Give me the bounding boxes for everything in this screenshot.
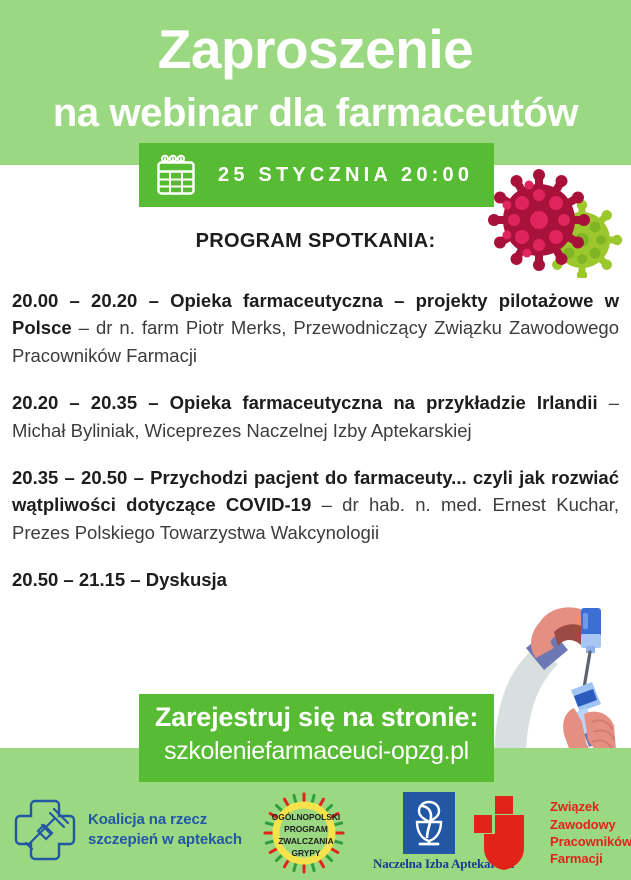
registration-url[interactable]: szkoleniefarmaceuci-opzg.pl xyxy=(139,735,494,768)
program-item: 20.20 – 20.35 – Opieka farmaceutyczna na… xyxy=(12,389,619,444)
logo-zzpf-line3: Pracowników xyxy=(550,834,631,849)
page-title: Zaproszenie xyxy=(0,21,631,79)
date-badge: 25 STYCZNIA 20:00 xyxy=(139,143,494,207)
red-shield-icon xyxy=(468,794,544,872)
logo-zzpf-line4: Farmacji xyxy=(550,851,603,866)
program-item-title: 20.50 – 21.15 – Dyskusja xyxy=(12,569,227,590)
logo-ogolnopolski-program-zwalczania-grypy: OGÓLNOPOLSKI PROGRAM ZWALCZANIA GRYPY xyxy=(254,790,366,876)
svg-text:GRYPY: GRYPY xyxy=(291,848,320,858)
program-item: 20.50 – 21.15 – Dyskusja xyxy=(12,566,619,593)
logo-koalicja-text: Koalicja na rzecz szczepień w aptekach xyxy=(88,810,242,850)
pharmacy-cross-syringe-icon xyxy=(10,795,80,865)
program-heading: PROGRAM SPOTKANIA: xyxy=(0,230,631,253)
logo-zzpf-line2: Zawodowy xyxy=(550,817,616,832)
program-item: 20.00 – 20.20 – Opieka farmaceutyczna – … xyxy=(12,287,619,369)
logo-koalicja-line2: szczepień w aptekach xyxy=(88,831,242,848)
registration-cta: Zarejestruj się na stronie: xyxy=(139,701,494,735)
calendar-icon xyxy=(156,154,196,196)
svg-text:OGÓLNOPOLSKI: OGÓLNOPOLSKI xyxy=(272,811,340,822)
logo-zwiazek-zawodowy-pracownikow-farmacji: Związek Zawodowy Pracowników Farmacji xyxy=(468,788,628,878)
logo-koalicja-line1: Koalicja na rzecz xyxy=(88,811,207,828)
webinar-invitation-poster: Zaproszenie na webinar dla farmaceutów 2… xyxy=(0,0,631,880)
program-list: 20.00 – 20.20 – Opieka farmaceutyczna – … xyxy=(12,287,619,593)
logo-zzpf-text: Związek Zawodowy Pracowników Farmacji xyxy=(550,798,631,867)
program-item-title: 20.20 – 20.35 – Opieka farmaceutyczna na… xyxy=(12,392,598,413)
page-subtitle: na webinar dla farmaceutów xyxy=(0,92,631,134)
svg-text:PROGRAM: PROGRAM xyxy=(284,824,328,834)
logo-koalicja-na-rzecz-szczepien: Koalicja na rzecz szczepień w aptekach xyxy=(10,793,254,867)
program-item: 20.35 – 20.50 – Przychodzi pacjent do fa… xyxy=(12,464,619,546)
svg-text:ZWALCZANIA: ZWALCZANIA xyxy=(278,836,333,846)
virus-particles-illustration xyxy=(483,163,631,278)
date-badge-label: 25 STYCZNIA 20:00 xyxy=(218,164,473,187)
logo-zzpf-line1: Związek xyxy=(550,799,599,814)
registration-box[interactable]: Zarejestruj się na stronie: szkoleniefar… xyxy=(139,694,494,782)
program-item-speaker: – dr n. farm Piotr Merks, Przewodniczący… xyxy=(12,317,619,365)
